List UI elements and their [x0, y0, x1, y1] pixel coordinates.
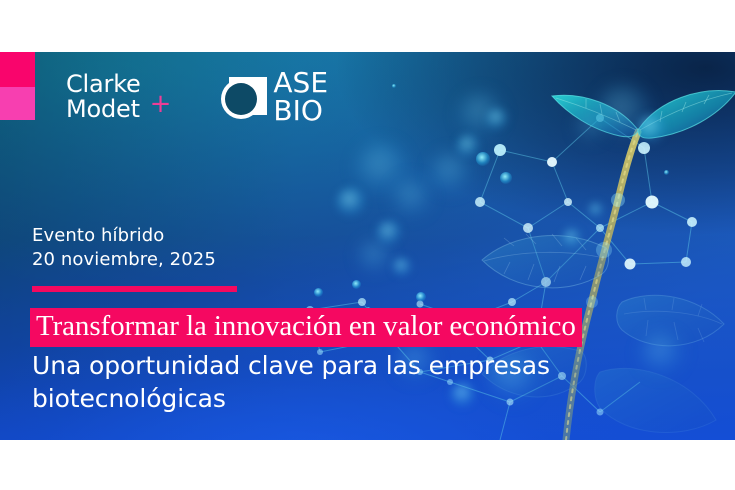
logo-row: Clarke Modet + ASE BIO: [66, 66, 328, 128]
asebio-line2: BIO: [273, 97, 328, 125]
clarke-modet-logo[interactable]: Clarke Modet +: [66, 72, 171, 123]
event-meta: Evento híbrido 20 noviembre, 2025: [32, 224, 216, 273]
asebio-wordmark: ASE BIO: [273, 69, 328, 124]
clarke-modet-line2: Modet: [66, 97, 141, 122]
subheadline-line1: Una oportunidad clave para las empresas: [32, 349, 622, 382]
asebio-line1: ASE: [273, 69, 328, 97]
clarke-modet-line1: Clarke: [66, 72, 141, 97]
asebio-mark-icon: [219, 71, 271, 123]
event-banner: Clarke Modet + ASE BIO Evento híbrido 2: [0, 52, 735, 440]
event-format: Evento híbrido: [32, 224, 216, 248]
plus-icon: +: [150, 91, 172, 117]
pink-block-upper: [0, 52, 35, 87]
pink-corner-block: [0, 52, 35, 120]
subheadline-line2: biotecnológicas: [32, 382, 622, 415]
subheadline: Una oportunidad clave para las empresas …: [32, 349, 622, 416]
asebio-logo[interactable]: ASE BIO: [219, 69, 328, 124]
clarke-modet-wordmark: Clarke Modet: [66, 72, 141, 123]
headline-highlight: Transformar la innovación en valor econó…: [30, 308, 582, 347]
pink-block-lower: [0, 87, 35, 120]
headline-text: Transformar la innovación en valor econó…: [36, 310, 576, 342]
accent-rule: [32, 286, 237, 292]
event-date: 20 noviembre, 2025: [32, 248, 216, 272]
